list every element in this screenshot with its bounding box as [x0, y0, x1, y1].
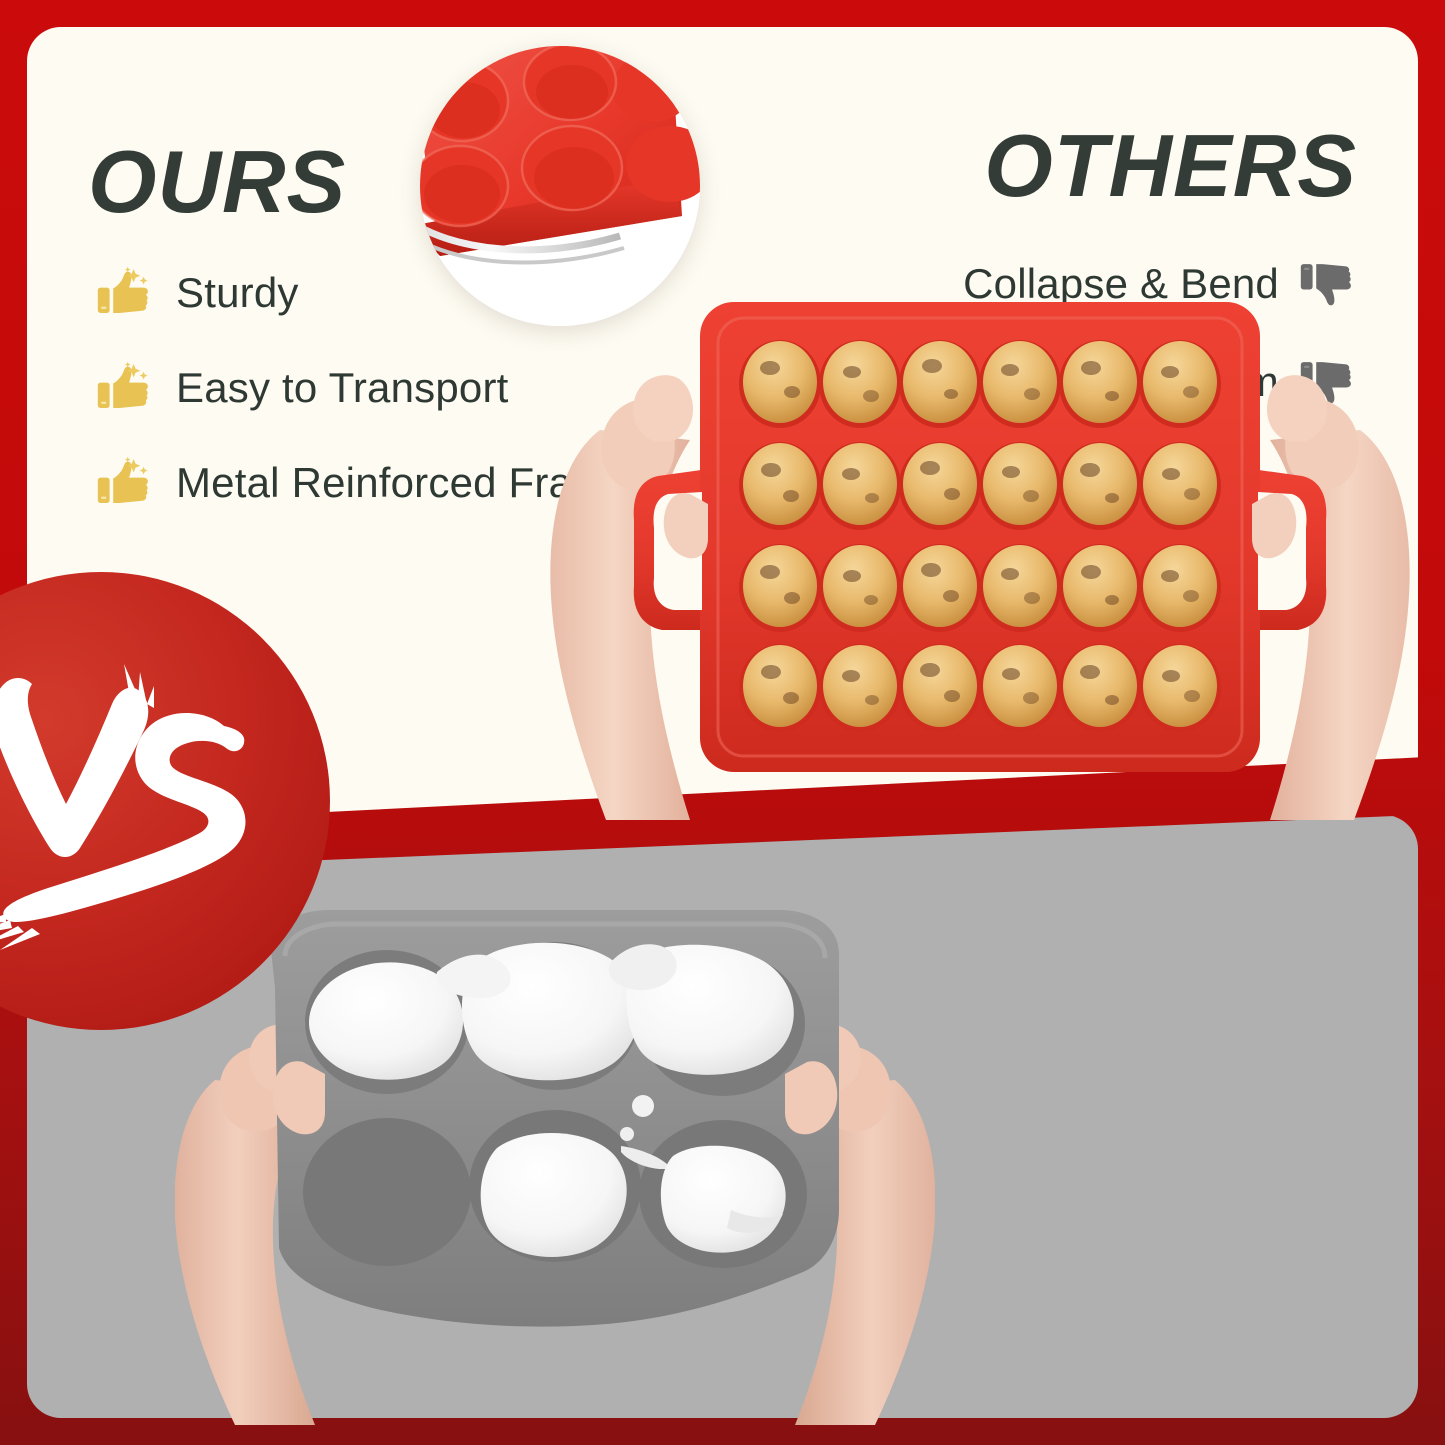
muffin-cell — [899, 644, 981, 732]
muffin-cell — [819, 544, 901, 632]
tray-body — [634, 302, 1327, 772]
muffin-cell — [1059, 544, 1141, 632]
vs-badge — [0, 572, 330, 1030]
muffin-cell — [979, 442, 1061, 530]
muffin-cell — [899, 442, 981, 530]
muffin-cell — [1059, 442, 1141, 530]
thumbs-up-icon — [96, 454, 154, 512]
muffin-cell — [1139, 644, 1221, 732]
muffin-cell — [739, 644, 821, 732]
muffin-cell — [1059, 340, 1141, 428]
red-muffin-tray-scene — [540, 280, 1420, 820]
muffin-cell — [979, 340, 1061, 428]
thumbs-up-icon — [96, 359, 154, 417]
muffin-cell — [1139, 442, 1221, 530]
muffin-cell — [819, 340, 901, 428]
muffin-cell — [739, 544, 821, 632]
muffin-cell — [899, 340, 981, 428]
muffin-cell — [979, 544, 1061, 632]
muffin-cell — [1139, 340, 1221, 428]
muffin-cell — [1139, 544, 1221, 632]
muffin-cell — [739, 442, 821, 530]
muffin-cell — [739, 340, 821, 428]
muffin-cell — [1059, 644, 1141, 732]
thumbs-up-icon — [96, 264, 154, 322]
muffin-cell — [899, 544, 981, 632]
others-heading: OTHERS — [984, 115, 1357, 217]
ours-feature-label: Sturdy — [176, 269, 299, 317]
ours-heading: OURS — [88, 131, 346, 233]
ours-feature-label: Easy to Transport — [176, 364, 509, 412]
muffin-cell — [819, 442, 901, 530]
muffin-cell — [979, 644, 1061, 732]
vs-letter-v — [0, 678, 148, 857]
metal-frame-closeup-inset — [420, 46, 700, 326]
muffin-cell — [819, 644, 901, 732]
comparison-infographic: OURS Sturdy — [0, 0, 1445, 1445]
